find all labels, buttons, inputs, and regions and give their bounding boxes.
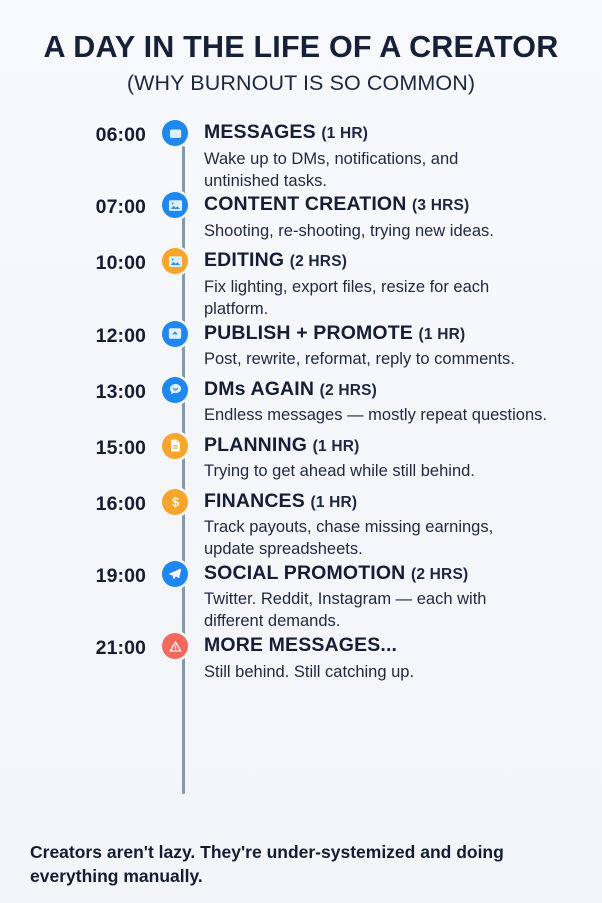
timeline-content: SOCIAL PROMOTION (2 HRS)Twitter. Reddit,… — [190, 561, 602, 633]
infographic-page: A DAY IN THE LIFE OF A CREATOR (WHY BURN… — [0, 0, 602, 903]
timeline-marker — [160, 321, 190, 349]
timeline-heading-label: CONTENT CREATION — [204, 193, 406, 215]
timeline-duration: (1 HR) — [419, 326, 466, 343]
timeline: 06:00MESSAGES (1 HR)Wake up to DMs, noti… — [0, 120, 602, 693]
timeline-marker: $ — [160, 489, 190, 517]
timeline-description: Still behind. Still catching up. — [204, 662, 602, 684]
timeline-time: 21:00 — [0, 633, 160, 659]
dollar-icon: $ — [162, 489, 188, 515]
timeline-row: 07:00CONTENT CREATION (3 HRS)Shooting, r… — [0, 192, 602, 248]
timeline-duration: (3 HRS) — [412, 197, 469, 214]
timeline-heading: FINANCES (1 HR) — [204, 490, 602, 512]
timeline-heading: CONTENT CREATION (3 HRS) — [204, 193, 602, 215]
svg-text:$: $ — [171, 495, 178, 509]
timeline-duration: (2 HRS) — [290, 253, 347, 270]
timeline-marker — [160, 561, 190, 589]
timeline-row: 12:00PUBLISH + PROMOTE (1 HR)Post, rewri… — [0, 321, 602, 377]
timeline-content: FINANCES (1 HR)Track payouts, chase miss… — [190, 489, 602, 561]
paper-plane-icon — [162, 561, 188, 587]
timeline-heading: MESSAGES (1 HR) — [204, 121, 602, 143]
timeline-heading-label: SOCIAL PROMOTION — [204, 562, 405, 584]
timeline-heading-label: FINANCES — [204, 490, 305, 512]
timeline-time: 12:00 — [0, 321, 160, 347]
timeline-description: Post, rewrite, reformat, reply to commen… — [204, 349, 602, 371]
timeline-heading: SOCIAL PROMOTION (2 HRS) — [204, 562, 602, 584]
timeline-heading-label: MESSAGES — [204, 121, 316, 143]
page-title: A DAY IN THE LIFE OF A CREATOR — [20, 30, 582, 64]
timeline-heading-label: PUBLISH + PROMOTE — [204, 322, 413, 344]
envelope-icon — [162, 120, 188, 146]
alert-triangle-icon — [162, 633, 188, 659]
timeline-row: 13:00DMs AGAIN (2 HRS)Endless messages —… — [0, 377, 602, 433]
timeline-heading: DMs AGAIN (2 HRS) — [204, 378, 602, 400]
upload-icon — [162, 321, 188, 347]
timeline-description: Endless messages — mostly repeat questio… — [204, 405, 602, 427]
timeline-heading: MORE MESSAGES... — [204, 634, 602, 656]
timeline-description: Shooting, re-shooting, trying new ideas. — [204, 221, 602, 243]
timeline-row: 16:00$FINANCES (1 HR)Track payouts, chas… — [0, 489, 602, 561]
footer-note: Creators aren't lazy. They're under-syst… — [0, 841, 602, 889]
timeline-content: DMs AGAIN (2 HRS)Endless messages — most… — [190, 377, 602, 427]
timeline-duration: (2 HRS) — [411, 566, 468, 583]
timeline-duration: (1 HR) — [313, 438, 360, 455]
timeline-content: PLANNING (1 HR)Trying to get ahead while… — [190, 433, 602, 483]
timeline-marker — [160, 120, 190, 148]
timeline-time: 13:00 — [0, 377, 160, 403]
chat-bubble-icon — [162, 377, 188, 403]
header: A DAY IN THE LIFE OF A CREATOR (WHY BURN… — [0, 0, 602, 100]
timeline-duration: (1 HR) — [310, 494, 357, 511]
timeline-time: 10:00 — [0, 248, 160, 274]
image-icon — [162, 192, 188, 218]
timeline-description: Twitter. Reddit, Instagram — each with d… — [204, 589, 534, 633]
timeline-heading: EDITING (2 HRS) — [204, 249, 602, 271]
timeline-duration: (2 HRS) — [320, 382, 377, 399]
timeline-description: Trying to get ahead while still behind. — [204, 461, 602, 483]
timeline-time: 07:00 — [0, 192, 160, 218]
image-icon — [162, 248, 188, 274]
timeline-marker — [160, 633, 190, 661]
timeline-marker — [160, 248, 190, 276]
timeline-heading: PUBLISH + PROMOTE (1 HR) — [204, 322, 602, 344]
timeline-description: Fix lighting, export files, resize for e… — [204, 277, 534, 321]
page-subtitle: (WHY BURNOUT IS SO COMMON) — [20, 71, 582, 96]
timeline-heading-label: PLANNING — [204, 434, 307, 456]
timeline-description: Wake up to DMs, notifications, and untin… — [204, 149, 534, 193]
timeline-content: MESSAGES (1 HR)Wake up to DMs, notificat… — [190, 120, 602, 192]
timeline-row: 10:00EDITING (2 HRS)Fix lighting, export… — [0, 248, 602, 320]
timeline-time: 19:00 — [0, 561, 160, 587]
timeline-row: 15:00PLANNING (1 HR)Trying to get ahead … — [0, 433, 602, 489]
timeline-heading: PLANNING (1 HR) — [204, 434, 602, 456]
timeline-row: 06:00MESSAGES (1 HR)Wake up to DMs, noti… — [0, 120, 602, 192]
timeline-heading-label: MORE MESSAGES... — [204, 634, 397, 656]
timeline-content: MORE MESSAGES...Still behind. Still catc… — [190, 633, 602, 683]
timeline-row: 21:00MORE MESSAGES...Still behind. Still… — [0, 633, 602, 689]
timeline-time: 15:00 — [0, 433, 160, 459]
timeline-marker — [160, 377, 190, 405]
timeline-duration: (1 HR) — [321, 125, 368, 142]
timeline-description: Track payouts, chase missing earnings, u… — [204, 517, 534, 561]
timeline-marker — [160, 192, 190, 220]
timeline-heading-label: EDITING — [204, 249, 284, 271]
timeline-content: CONTENT CREATION (3 HRS)Shooting, re-sho… — [190, 192, 602, 242]
document-icon — [162, 433, 188, 459]
timeline-marker — [160, 433, 190, 461]
timeline-row: 19:00SOCIAL PROMOTION (2 HRS)Twitter. Re… — [0, 561, 602, 633]
timeline-heading-label: DMs AGAIN — [204, 378, 314, 400]
timeline-content: PUBLISH + PROMOTE (1 HR)Post, rewrite, r… — [190, 321, 602, 371]
timeline-time: 16:00 — [0, 489, 160, 515]
timeline-time: 06:00 — [0, 120, 160, 146]
timeline-content: EDITING (2 HRS)Fix lighting, export file… — [190, 248, 602, 320]
